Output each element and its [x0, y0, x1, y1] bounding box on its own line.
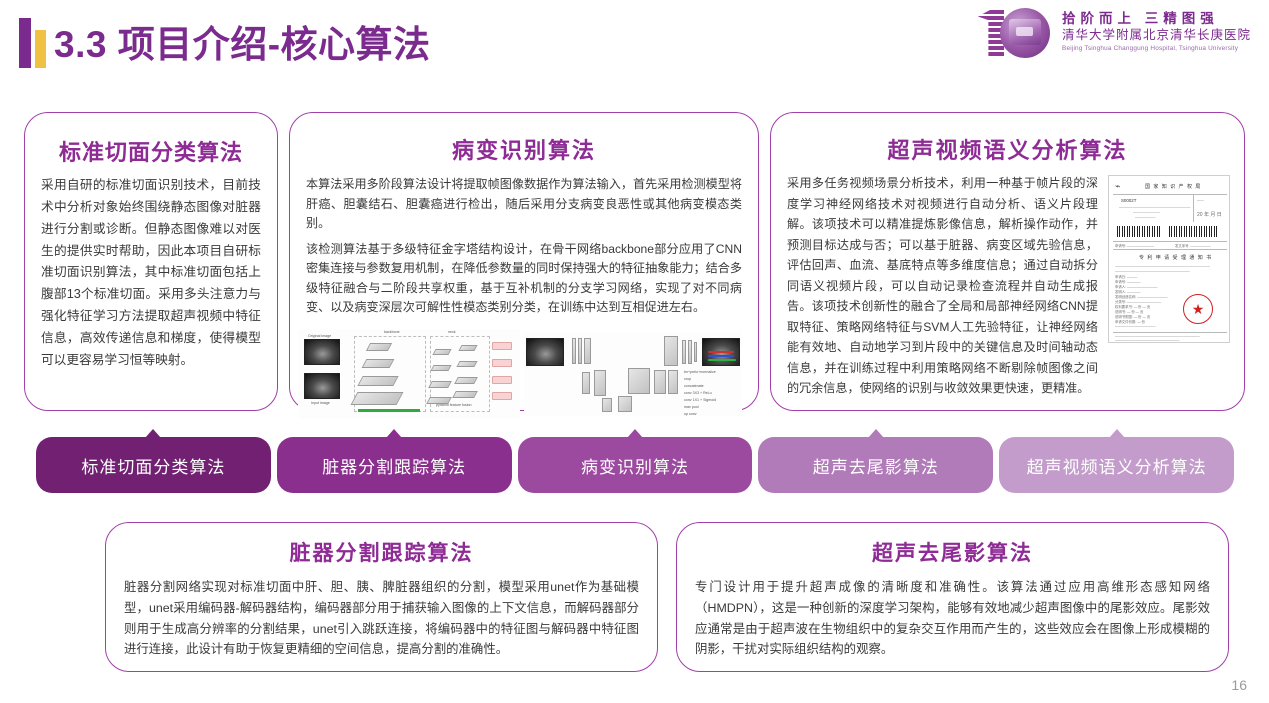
pipeline-notch-icon: [145, 429, 161, 438]
unet-out-block-1: [682, 340, 686, 364]
logo-slogan: 拾阶而上 三精图强: [1062, 12, 1251, 27]
fpn-input-image-thumb: [304, 373, 340, 399]
card-standard-plane-classification: 标准切面分类算法 采用自研的标准切面识别技术，目前技术中分析对象始终围绕静态图像…: [24, 112, 278, 411]
pipeline-notch-icon: [868, 429, 884, 438]
fpn-neck-map-2: [430, 365, 451, 371]
unet-dec-block-3: [668, 370, 678, 394]
card-organ-segmentation-tracking: 脏器分割跟踪算法 脏器分割网络实现对标准切面中肝、胆、胰、脾脏器组织的分割，模型…: [105, 522, 658, 672]
page-title: 3.3 项目介绍-核心算法: [54, 14, 431, 68]
unet-legend-5: conv 1X1 + Sigmoid: [684, 398, 716, 402]
unet-legend-7: up conv: [684, 412, 697, 416]
fpn-neck-map-1: [432, 349, 451, 355]
pipeline-notch-icon: [627, 429, 643, 438]
fpn-conv-box-2: [492, 359, 512, 367]
fpn-out-map-3: [454, 377, 478, 384]
card-body-standard: 采用自研的标准切面识别技术，目前技术中分析对象始终围绕静态图像对脏器进行分割或诊…: [25, 167, 277, 372]
fpn-out-map-2: [456, 361, 477, 367]
pipeline-step-label: 病变识别算法: [581, 453, 689, 478]
algorithm-pipeline-bar: 标准切面分类算法 脏器分割跟踪算法 病变识别算法 超声去尾影算法 超声视频语义分…: [36, 437, 1234, 493]
logo-org-cn: 清华大学附属北京清华长庚医院: [1062, 29, 1251, 43]
unet-out-block-2: [688, 340, 692, 364]
lesion-paragraph-1: 本算法采用多阶段算法设计将提取帧图像数据作为算法输入，首先采用检测模型将肝癌、胆…: [306, 175, 742, 234]
fpn-label-neck: neck: [448, 330, 456, 334]
unet-enc-block-2: [578, 338, 582, 364]
fpn-label-input: Input image: [311, 401, 330, 405]
patent-app-no: S0002T: [1121, 198, 1136, 203]
fpn-original-image-thumb: [304, 339, 340, 365]
pipeline-step-label: 标准切面分类算法: [81, 453, 225, 478]
patent-red-seal-icon: ★: [1183, 294, 1213, 324]
logo-org-en: Beijing Tsinghua Changgung Hospital, Tsi…: [1062, 45, 1251, 52]
page-number: 16: [1231, 677, 1247, 693]
fpn-feature-map-1: [366, 343, 392, 351]
pipeline-notch-icon: [1109, 429, 1125, 438]
unet-legend-4: conv 3X3 + ReLu: [684, 391, 712, 395]
unet-input-ultrasound-thumb: [526, 338, 564, 366]
logo-emblem-icon: [976, 6, 1054, 58]
unet-bottom-block-1: [602, 398, 612, 412]
card-body-shadow: 专门设计用于提升超声成像的清晰度和准确性。该算法通过应用高维形态感知网络（HMD…: [677, 567, 1228, 660]
fpn-label-original: Original image: [308, 334, 331, 338]
card-body-organ: 脏器分割网络实现对标准切面中肝、胆、胰、脾脏器组织的分割，模型采用unet作为基…: [106, 567, 657, 660]
unet-enc-block-5: [594, 370, 606, 396]
unet-out-block-3: [694, 342, 697, 362]
unet-enc-block-4: [582, 372, 590, 394]
accent-bar-gold: [35, 30, 46, 68]
card-title-semantic: 超声视频语义分析算法: [771, 133, 1244, 165]
pipeline-step-label: 超声视频语义分析算法: [1027, 453, 1207, 478]
fpn-feature-map-3: [357, 376, 398, 386]
fpn-conv-box-4: [492, 392, 512, 400]
pipeline-step-video-semantic[interactable]: 超声视频语义分析算法: [999, 437, 1234, 493]
fpn-neck-map-3: [428, 381, 452, 388]
fpn-feature-map-2: [362, 359, 395, 368]
card-video-semantic-analysis: 超声视频语义分析算法 采用多任务视频场景分析技术，利用一种基于帧片段的深度学习神…: [770, 112, 1245, 411]
card-shadow-removal: 超声去尾影算法 专门设计用于提升超声成像的清晰度和准确性。该算法通过应用高维形态…: [676, 522, 1229, 672]
pipeline-step-standard-plane[interactable]: 标准切面分类算法: [36, 437, 271, 493]
hospital-logo: 拾阶而上 三精图强 清华大学附属北京清华长庚医院 Beijing Tsinghu…: [976, 6, 1251, 58]
unet-dec-block-1: [628, 368, 650, 394]
unet-legend-1: bn+prelu+normalize: [684, 370, 716, 374]
unet-legend-3: concatenate: [684, 384, 704, 388]
unet-enc-block-3: [584, 338, 591, 364]
fpn-out-map-4: [452, 391, 478, 398]
pipeline-step-lesion-recognition[interactable]: 病变识别算法: [518, 437, 753, 493]
unet-legend-6: max pool: [684, 405, 699, 409]
unet-output-segmented-thumb: [702, 338, 740, 366]
pipeline-step-label: 脏器分割跟踪算法: [322, 453, 466, 478]
feature-pyramid-network-diagram: backbone neck pyramid feature fusion Ori…: [298, 329, 520, 419]
unet-bottom-block-2: [618, 396, 632, 412]
unet-dec-block-2: [654, 370, 666, 394]
accent-bar-purple: [19, 18, 31, 68]
fpn-conv-box-3: [492, 376, 512, 384]
card-title-lesion: 病变识别算法: [290, 133, 758, 165]
card-title-standard: 标准切面分类算法: [25, 135, 277, 167]
fpn-dense-block-bar: [358, 409, 420, 412]
unet-dec-block-top: [664, 336, 678, 366]
pipeline-step-organ-segmentation[interactable]: 脏器分割跟踪算法: [277, 437, 512, 493]
semantic-content-row: 采用多任务视频场景分析技术，利用一种基于帧片段的深度学习神经网络技术对视频进行自…: [771, 165, 1244, 399]
patent-barcode-right: [1169, 226, 1217, 237]
slide-header: 3.3 项目介绍-核心算法 拾阶而上 三精图强 清华大学附属北京清华长庚医院 B…: [0, 0, 1269, 92]
fpn-conv-box-1: [492, 342, 512, 350]
card-body-lesion: 本算法采用多阶段算法设计将提取帧图像数据作为算法输入，首先采用检测模型将肝癌、胆…: [290, 165, 758, 318]
card-title-shadow: 超声去尾影算法: [677, 537, 1228, 567]
card-title-organ: 脏器分割跟踪算法: [106, 537, 657, 567]
unet-architecture-diagram: bn+prelu+normalize crop concatenate conv…: [524, 332, 742, 416]
pipeline-step-label: 超声去尾影算法: [813, 453, 939, 478]
pipeline-notch-icon: [386, 429, 402, 438]
card-body-semantic: 采用多任务视频场景分析技术，利用一种基于帧片段的深度学习神经网络技术对视频进行自…: [787, 173, 1098, 399]
slide-root: 3.3 项目介绍-核心算法 拾阶而上 三精图强 清华大学附属北京清华长庚医院 B…: [0, 0, 1269, 703]
lesion-figure-strip: backbone neck pyramid feature fusion Ori…: [290, 324, 758, 420]
patent-issuer: 国 家 知 识 产 权 局: [1145, 183, 1201, 190]
patent-application-notice: 国 家 知 识 产 权 局 ⌁ S0002T —————————————————…: [1108, 175, 1230, 343]
fpn-neck-map-4: [426, 397, 452, 404]
patent-barcode-left: [1117, 226, 1161, 237]
pipeline-step-shadow-removal[interactable]: 超声去尾影算法: [758, 437, 993, 493]
title-accent-bars: [19, 12, 46, 68]
logo-circle-icon: [1000, 8, 1050, 58]
fpn-out-map-1: [458, 345, 477, 351]
patent-emblem-icon: ⌁: [1115, 181, 1120, 192]
card-lesion-recognition: 病变识别算法 本算法采用多阶段算法设计将提取帧图像数据作为算法输入，首先采用检测…: [289, 112, 759, 411]
unet-legend-2: crop: [684, 377, 691, 381]
logo-text-block: 拾阶而上 三精图强 清华大学附属北京清华长庚医院 Beijing Tsinghu…: [1062, 12, 1251, 52]
lesion-paragraph-2: 该检测算法基于多级特征金字塔结构设计，在骨干网络backbone部分应用了CNN…: [306, 240, 742, 318]
unet-enc-block-1: [572, 338, 576, 364]
fpn-label-backbone: backbone: [384, 330, 400, 334]
patent-doc-title: 专 利 申 请 受 理 通 知 书: [1139, 254, 1212, 261]
fpn-feature-map-4: [351, 392, 404, 405]
